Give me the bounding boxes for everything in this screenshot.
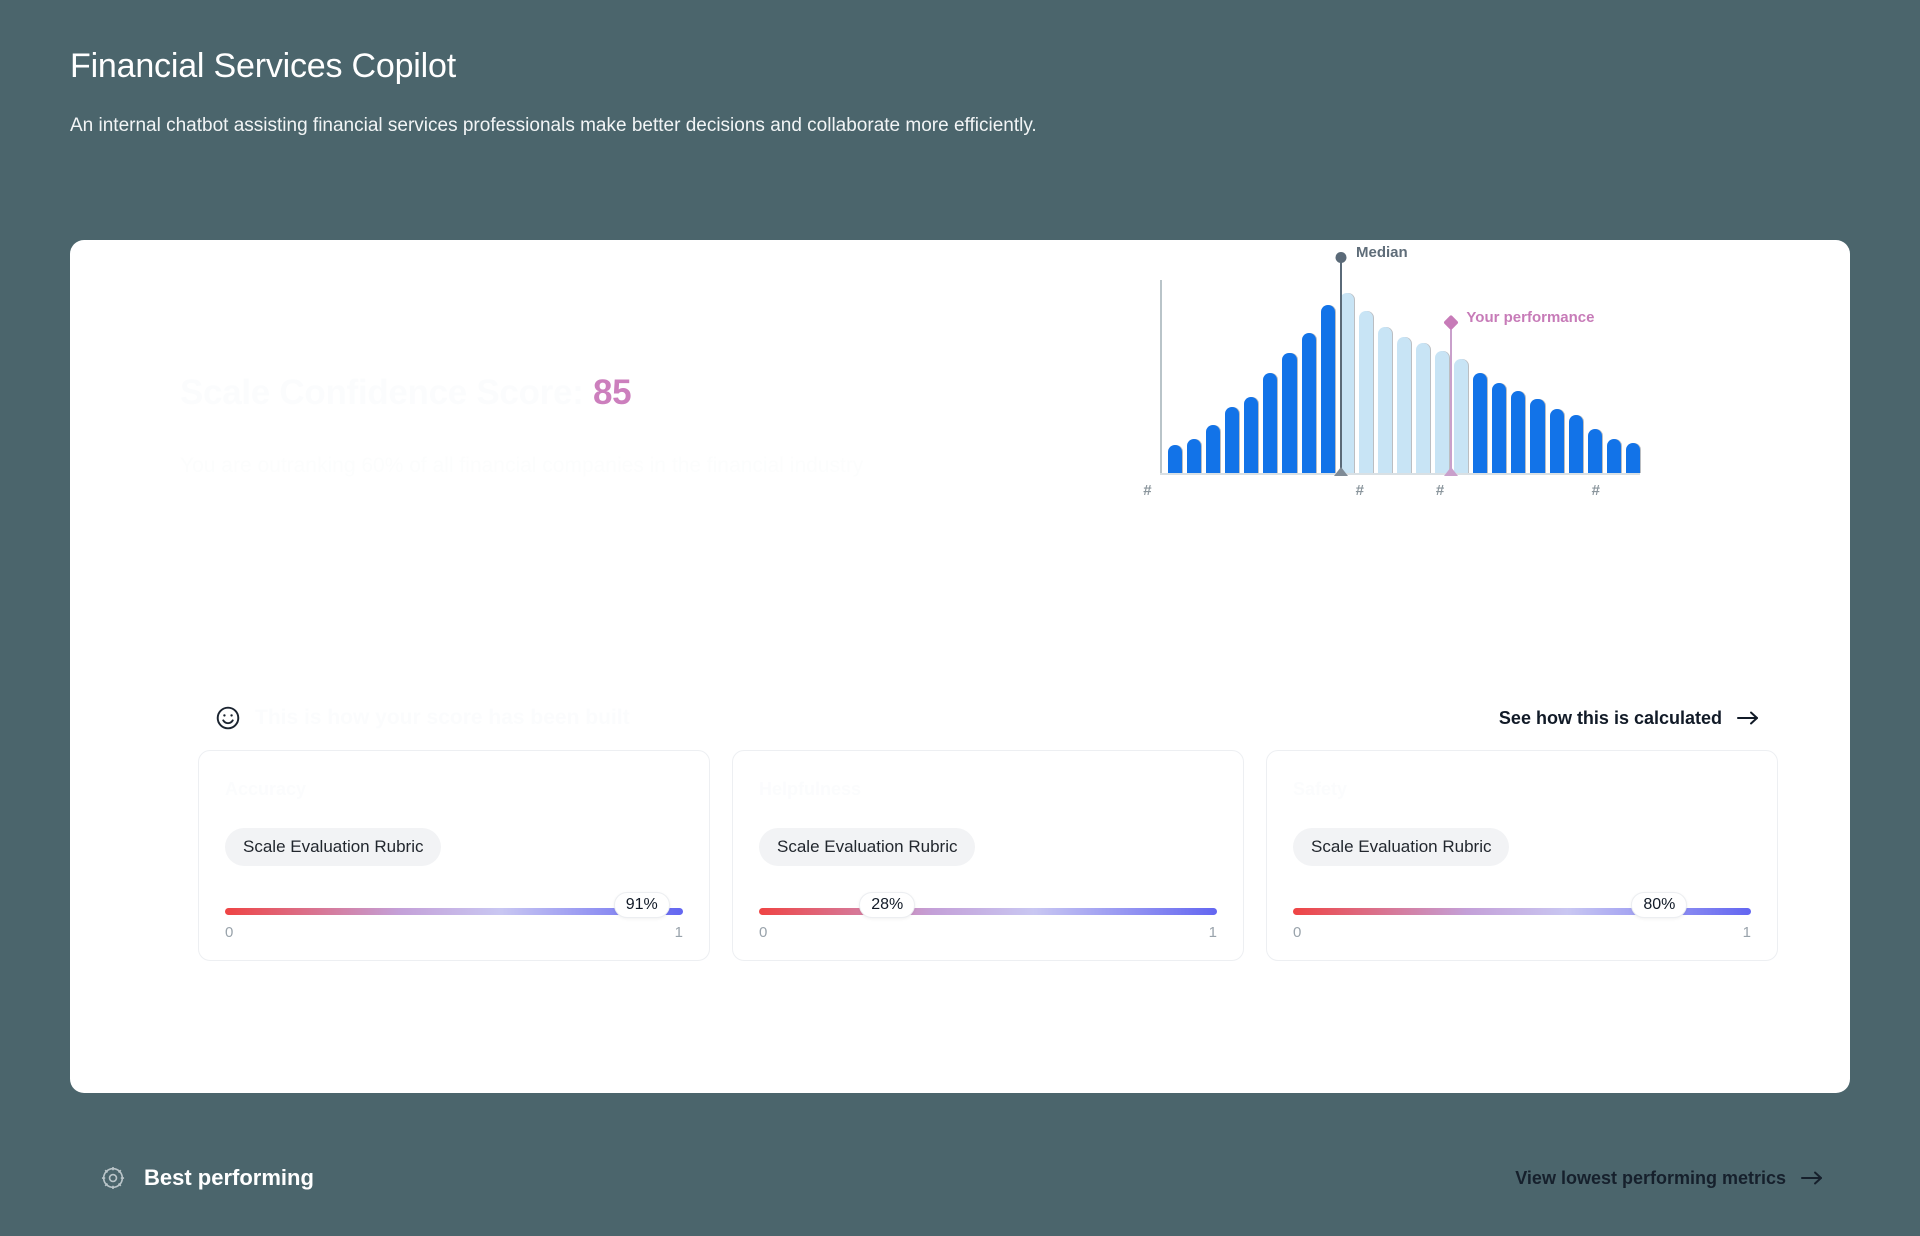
histogram-bars [1168,273,1640,473]
histogram-bar [1435,351,1449,473]
score-heading: Scale Confidence Score: 85 [180,370,1000,416]
score-label: Scale Confidence Score: [180,373,584,412]
marker-label: Median [1356,244,1408,261]
histogram-x-axis [1160,473,1640,475]
rubric-pill[interactable]: Scale Evaluation Rubric [225,828,441,866]
histogram-bar [1588,429,1602,473]
slider-min-label: 0 [1293,924,1301,941]
breakdown-header: This is how your score has been built Se… [215,705,1760,731]
median-marker: Median [1340,258,1342,473]
metric-slider[interactable]: 28%01 [759,900,1217,930]
see-how-calculated-link[interactable]: See how this is calculated [1499,708,1760,729]
score-description: You are outranking 60% of all financial … [180,446,970,486]
arrow-right-icon [1736,710,1760,726]
score-block: Scale Confidence Score: 85 You are outra… [180,370,1000,485]
footer: Best performing View lowest performing m… [100,1165,1824,1191]
metric-title: Helpfulness [759,779,1217,800]
marker-foot-icon [1444,467,1458,476]
page-subtitle: An internal chatbot assisting financial … [70,109,1130,142]
breakdown-heading: This is how your score has been built [255,706,630,730]
histogram-plot: MedianYour performance [1160,260,1640,475]
metric-title: Accuracy [225,779,683,800]
histogram-bar [1550,409,1564,473]
histogram-bar [1263,373,1277,473]
histogram-bar [1378,327,1392,473]
slider-track [759,908,1217,915]
header: Financial Services Copilot An internal c… [70,46,1270,142]
histogram-tick-labels: #### [1138,482,1610,506]
marker-foot-icon [1334,467,1348,476]
histogram-bar [1321,305,1335,473]
your-performance-marker: Your performance [1450,323,1452,474]
marker-label: Your performance [1466,309,1594,326]
histogram-tick-label: # [1356,482,1364,499]
metric-slider[interactable]: 80%01 [1293,900,1751,930]
breakdown-heading-group: This is how your score has been built [215,705,630,731]
slider-value-knob[interactable]: 80% [1631,892,1687,918]
gear-icon [100,1165,126,1191]
slider-min-label: 0 [759,924,767,941]
histogram-bar [1569,415,1583,473]
metric-card: AccuracyScale Evaluation Rubric91%01 [198,750,710,961]
histogram-bar [1473,373,1487,473]
histogram-bar [1206,425,1220,473]
histogram-bar [1607,439,1621,473]
histogram-bar [1168,445,1182,473]
metric-pill-wrap: Scale Evaluation Rubric [225,828,683,866]
histogram-bar [1492,383,1506,473]
histogram-bar [1187,439,1201,473]
histogram-bar [1397,337,1411,473]
score-value: 85 [593,373,631,412]
slider-range-labels: 01 [1293,924,1751,941]
histogram-bar [1244,397,1258,473]
slider-range-labels: 01 [225,924,683,941]
view-lowest-performing-link[interactable]: View lowest performing metrics [1515,1168,1824,1189]
distribution-histogram: MedianYour performance #### [1130,260,1670,535]
main-card: Scale Confidence Score: 85 You are outra… [70,240,1850,1093]
metric-card: SafetyScale Evaluation Rubric80%01 [1266,750,1778,961]
metric-card: HelpfulnessScale Evaluation Rubric28%01 [732,750,1244,961]
slider-max-label: 1 [675,924,683,941]
histogram-y-axis [1160,280,1162,475]
histogram-bar [1530,399,1544,473]
marker-dot-icon [1336,252,1347,263]
slider-range-labels: 01 [759,924,1217,941]
histogram-bar [1359,311,1373,473]
page-root: Financial Services Copilot An internal c… [0,0,1920,1236]
arrow-right-icon [1800,1170,1824,1186]
histogram-tick-label: # [1592,482,1600,499]
rubric-pill[interactable]: Scale Evaluation Rubric [759,828,975,866]
metric-title: Safety [1293,779,1751,800]
histogram-bar [1626,443,1640,473]
histogram-bar [1225,407,1239,473]
metric-cards: AccuracyScale Evaluation Rubric91%01Help… [198,750,1778,961]
slider-value-knob[interactable]: 91% [614,892,670,918]
view-lowest-performing-label: View lowest performing metrics [1515,1168,1786,1189]
slider-max-label: 1 [1209,924,1217,941]
histogram-bar [1454,359,1468,473]
slider-value-knob[interactable]: 28% [859,892,915,918]
histogram-bar [1302,333,1316,473]
smiley-icon [215,705,241,731]
page-title: Financial Services Copilot [70,46,1270,87]
histogram-tick-label: # [1143,482,1151,499]
histogram-tick-label: # [1436,482,1444,499]
slider-max-label: 1 [1743,924,1751,941]
metric-pill-wrap: Scale Evaluation Rubric [759,828,1217,866]
histogram-bar [1511,391,1525,473]
metric-slider[interactable]: 91%01 [225,900,683,930]
see-how-calculated-label: See how this is calculated [1499,708,1722,729]
metric-pill-wrap: Scale Evaluation Rubric [1293,828,1751,866]
rubric-pill[interactable]: Scale Evaluation Rubric [1293,828,1509,866]
slider-min-label: 0 [225,924,233,941]
histogram-bar [1282,353,1296,473]
histogram-bar [1416,343,1430,473]
footer-status-label: Best performing [144,1165,314,1191]
footer-status-group: Best performing [100,1165,314,1191]
